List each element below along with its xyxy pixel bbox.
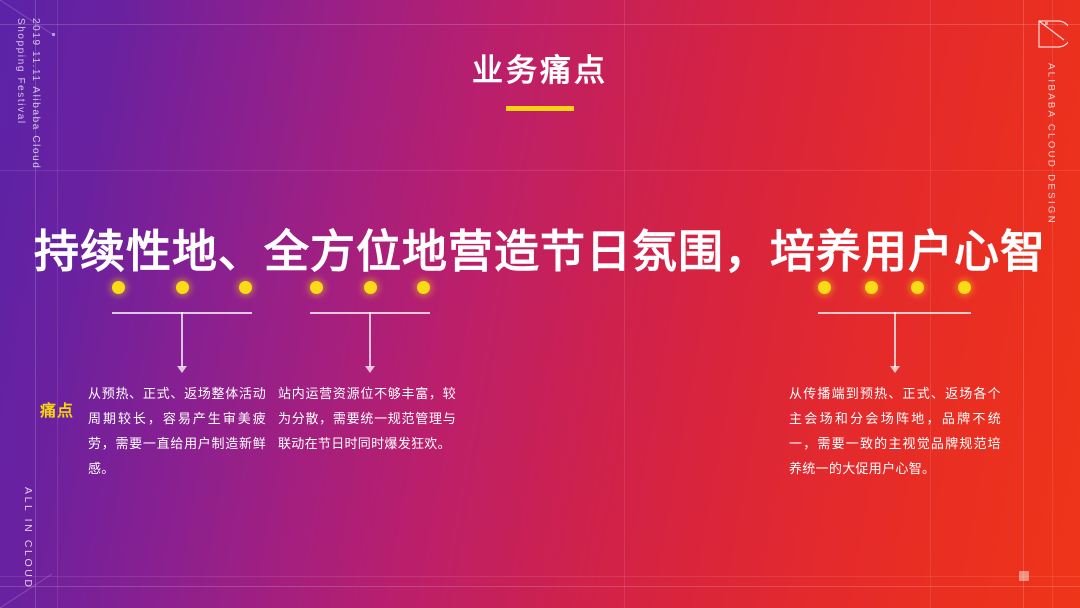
corner-marker-bottomright xyxy=(1019,571,1029,581)
connector-horizontal-bar-3 xyxy=(818,312,971,314)
pain-point-text-2: 站内运营资源位不够丰富，较为分散，需要统一规范管理与联动在节日时同时爆发狂欢。 xyxy=(278,382,456,457)
guide-line-horizontal-bottom xyxy=(0,586,1080,587)
connector-horizontal-bar-2 xyxy=(310,312,430,314)
dot xyxy=(417,281,430,294)
connector-group-1 xyxy=(112,281,252,373)
connector-group-3 xyxy=(818,281,971,373)
brand-text-line-1: 2019 11.11 Alibaba Cloud xyxy=(30,18,41,169)
connector-vertical-stem-1 xyxy=(181,312,183,367)
pain-point-text-3: 从传播端到预热、正式、返场各个主会场和分会场阵地，品牌不统一，需要一致的主视觉品… xyxy=(789,382,1001,482)
dot-row-2 xyxy=(310,281,430,294)
dot xyxy=(364,281,377,294)
guide-line-horizontal-lower xyxy=(0,576,1080,577)
connector-horizontal-bar-1 xyxy=(112,312,252,314)
connector-arrow-1 xyxy=(177,366,187,373)
presentation-slide: 2019 11.11 Alibaba Cloud Shopping Festiv… xyxy=(0,0,1080,608)
dot-row-1 xyxy=(112,281,252,294)
connector-vertical-stem-2 xyxy=(369,312,371,367)
connector-group-2 xyxy=(310,281,430,373)
guide-line-vertical-right-outer xyxy=(1023,0,1024,608)
dot xyxy=(911,281,924,294)
dot xyxy=(239,281,252,294)
guide-line-horizontal-top xyxy=(0,24,1080,25)
title-underline xyxy=(506,106,574,111)
connector-arrow-2 xyxy=(365,366,375,373)
pain-point-label: 痛点 xyxy=(40,400,74,423)
dot xyxy=(958,281,971,294)
dot xyxy=(112,281,125,294)
corner-anchor-dot-topleft xyxy=(52,33,55,36)
guide-line-vertical-center xyxy=(624,0,625,608)
connector-vertical-stem-3 xyxy=(894,312,896,367)
tagline-all-in-cloud: ALL IN CLOUD xyxy=(22,487,34,590)
dot xyxy=(176,281,189,294)
guide-line-vertical-left-inner xyxy=(57,0,58,608)
dot xyxy=(310,281,323,294)
headline: 持续性地、全方位地营造节日氛围，培养用户心智 xyxy=(0,215,1080,280)
pain-point-text-1: 从预热、正式、返场整体活动周期较长，容易产生审美疲劳，需要一直给用户制造新鲜感。 xyxy=(88,382,266,482)
guide-line-vertical-right-inner xyxy=(930,0,931,608)
page-title: 业务痛点 xyxy=(0,45,1080,90)
dot xyxy=(865,281,878,294)
connector-arrow-3 xyxy=(890,366,900,373)
guide-line-horizontal-upper xyxy=(0,170,1080,171)
dot xyxy=(818,281,831,294)
dot-row-3 xyxy=(818,281,971,294)
